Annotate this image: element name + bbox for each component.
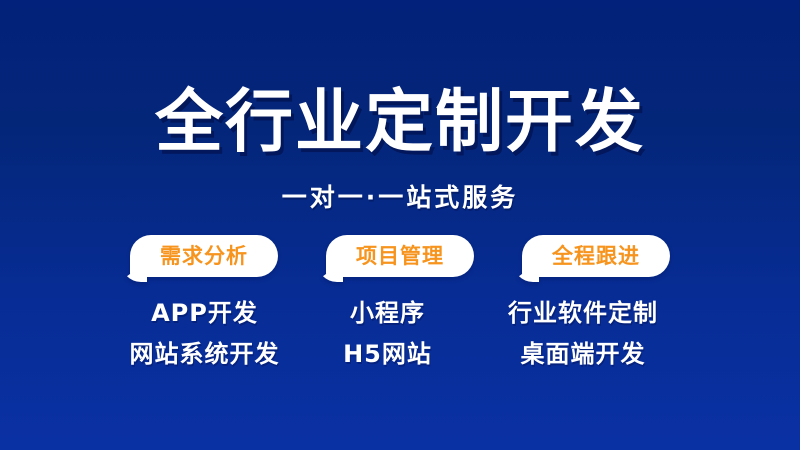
badge-row: 需求分析 项目管理 全程跟进: [130, 235, 670, 277]
badge-project-management[interactable]: 项目管理: [326, 235, 474, 277]
badge-label: 全程跟进: [552, 244, 640, 268]
service-item[interactable]: 小程序: [350, 298, 425, 328]
page-subtitle-container: 一对一·一站式服务: [282, 182, 519, 214]
promo-banner: 全行业定制开发 一对一·一站式服务 需求分析 项目管理 全程跟进 APP开发 网…: [0, 0, 800, 450]
service-item[interactable]: 行业软件定制: [508, 298, 658, 328]
page-subtitle: 一对一·一站式服务: [282, 184, 519, 212]
service-item[interactable]: 桌面端开发: [521, 339, 646, 369]
badge-label: 需求分析: [160, 244, 248, 268]
badge-requirement-analysis[interactable]: 需求分析: [130, 235, 278, 277]
badge-label: 项目管理: [356, 244, 444, 268]
page-title: 全行业定制开发: [155, 87, 645, 159]
service-item[interactable]: H5网站: [343, 339, 432, 369]
service-item[interactable]: APP开发: [151, 298, 258, 328]
page-title-container: 全行业定制开发: [155, 84, 645, 162]
service-column-1: APP开发 网站系统开发: [117, 298, 292, 369]
service-item[interactable]: 网站系统开发: [130, 339, 280, 369]
service-columns: APP开发 网站系统开发 小程序 H5网站 行业软件定制 桌面端开发: [117, 298, 683, 369]
service-column-2: 小程序 H5网站: [323, 298, 453, 369]
badge-full-process-tracking[interactable]: 全程跟进: [522, 235, 670, 277]
service-column-3: 行业软件定制 桌面端开发: [483, 298, 683, 369]
